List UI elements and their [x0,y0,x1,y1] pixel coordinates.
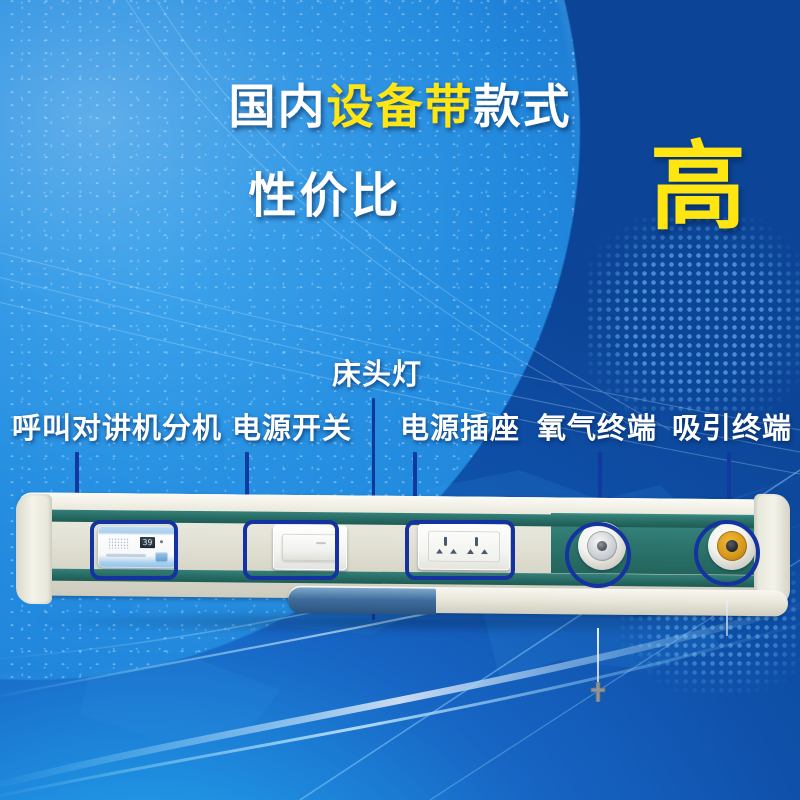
panel-lower-rail-lamp-cover [288,587,436,614]
intercom-call-button[interactable] [155,552,168,562]
suction-terminal-port [726,540,738,552]
intercom-slot [106,554,146,557]
intercom-display: 39 [140,537,155,548]
power-switch-plate[interactable] [273,525,347,571]
headline-block: 国内设备带款式 性价比 [0,78,800,136]
callout-label-power-socket: 电源插座 [400,412,520,446]
callout-label-suction-terminal: 吸引终端 [672,412,792,446]
socket-pin-icon [444,537,447,546]
headline-emphasis: 高 [650,140,746,236]
switch-marking [316,542,326,544]
power-switch-rocker[interactable] [282,534,338,562]
promo-image: 国内设备带款式 性价比 高 呼叫对讲机分机 电源开关 床头灯 电源插座 氧气终端… [0,0,800,800]
headline-part-2: 设备带 [327,80,474,133]
oxygen-terminal-outlet[interactable] [578,522,626,570]
callout-label-intercom: 呼叫对讲机分机 [12,412,222,446]
power-socket-plate[interactable] [418,524,510,571]
panel-end-cap-left [16,494,52,604]
pull-cord-secondary [726,600,728,636]
socket-pin-icon [481,549,488,554]
speaker-grille-icon [108,538,130,549]
callout-label-oxygen-terminal: 氧气终端 [537,412,657,446]
suction-terminal-outlet[interactable] [708,522,756,570]
callout-label-power-switch: 电源开关 [232,412,352,446]
pull-cord-handle-icon[interactable] [590,682,606,702]
pull-cord[interactable] [597,628,599,686]
oxygen-terminal-ring [587,531,617,561]
socket-pin-icon [450,549,457,554]
suction-terminal-ring [717,531,747,561]
headline-part-1: 国内 [229,80,327,133]
socket-pin-icon [475,537,478,546]
status-led-icon [160,540,163,543]
headline-line-1: 国内设备带款式 [0,78,800,136]
callout-label-bed-lamp: 床头灯 [332,358,422,392]
headline-part-3: 款式 [474,80,572,133]
bed-head-unit: 39 [18,496,788,631]
socket-pin-icon [436,549,443,554]
socket-pin-icon [467,549,474,554]
power-socket-face [428,531,500,563]
intercom-unit[interactable]: 39 [98,526,176,569]
oxygen-terminal-port [597,541,607,551]
